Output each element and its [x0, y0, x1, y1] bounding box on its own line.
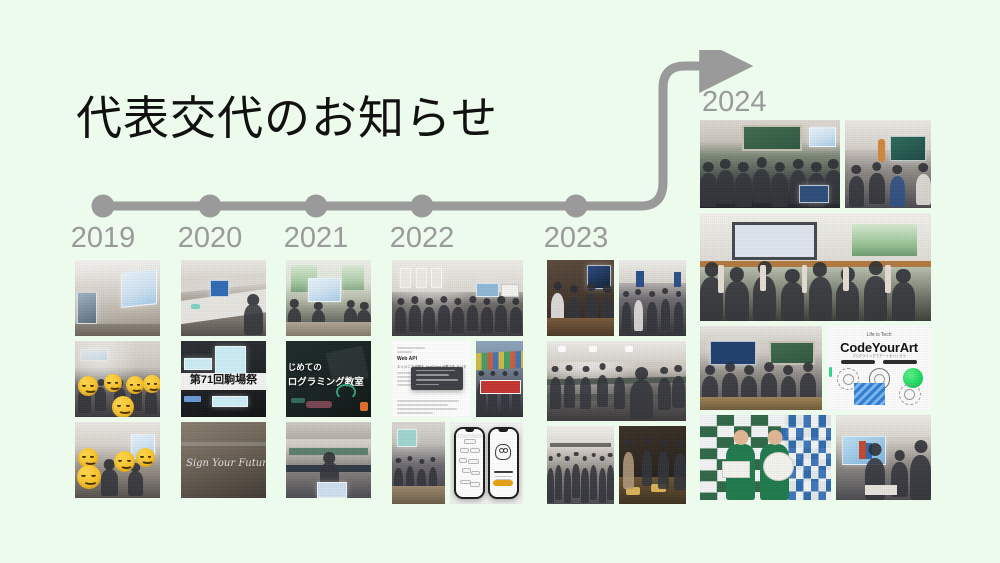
photo-column-2023 [547, 260, 686, 504]
komabasai-slide-photo: 第71回駒場祭 [181, 341, 266, 417]
photo-column-2022: Web API エンジニアが語る JavaScript が誰でも ビジネスを支配… [392, 260, 523, 504]
slide-canvas: 代表交代のお知らせ 2019 2020 2021 2022 2023 2024 [0, 0, 1000, 563]
page-title: 代表交代のお知らせ [76, 88, 498, 148]
sign-your-future-caption: Sign Your Future, Sign Our Future [186, 458, 266, 469]
seminar-room-participants-photo [75, 341, 160, 417]
school-hands-raised-photo [700, 213, 931, 321]
lecture-room-back-view-photo [286, 422, 371, 498]
photo-column-2020: 第71回駒場祭 Sign Your Future, Sign Our Futur… [181, 260, 266, 498]
office-coding-session-photo [619, 260, 686, 336]
photo-block-2024: Life is Tech CodeYourArt プログラミングでアートをつくろ… [700, 120, 931, 500]
codeyourart-website-screenshot: Life is Tech CodeYourArt プログラミングでアートをつくろ… [827, 326, 931, 411]
year-label-2020: 2020 [178, 222, 243, 255]
codeyourart-site-logo: Life is Tech [867, 332, 892, 338]
photo-column-2021: じめての ログラミング教室 [286, 260, 371, 498]
award-ceremony-photo [700, 415, 831, 500]
year-label-2024: 2024 [702, 86, 767, 119]
university-lecture-hall-photo [700, 120, 840, 208]
codeyourart-nav[interactable] [841, 360, 917, 364]
coworking-workshop-photo [286, 260, 371, 336]
timeline-dot-2019 [92, 195, 115, 218]
app-mockup-mindmap-screen [454, 427, 485, 499]
classroom-projector-photo [75, 260, 160, 336]
web-article-screenshot: Web API エンジニアが語る JavaScript が誰でも ビジネスを支配… [392, 341, 471, 417]
large-lecture-hall-photo [392, 260, 523, 336]
timeline-dot-2021 [305, 195, 328, 218]
app-mockup-owl-screen [488, 427, 519, 499]
sign-your-future-poster-photo: Sign Your Future, Sign Our Future [181, 422, 266, 498]
year-label-2022: 2022 [390, 222, 455, 255]
programming-class-caption-line1: じめての [288, 361, 322, 373]
workshop-tables-photo [392, 422, 445, 504]
app-mockups-photo [450, 422, 523, 504]
year-label-2019: 2019 [71, 222, 136, 255]
classroom-desks-laptops-photo [181, 260, 266, 336]
timeline-dot-2020 [199, 195, 222, 218]
year-label-2021: 2021 [284, 222, 349, 255]
year-label-2023: 2023 [544, 222, 609, 255]
photo-column-2019 [75, 260, 160, 498]
classroom-screen-demo-photo [836, 415, 931, 500]
lab-lecture-photo [845, 120, 931, 208]
web-article-title: Web API [397, 356, 466, 362]
hardware-workshop-photo [547, 260, 614, 336]
workshop-laptops-photo [75, 422, 160, 498]
dinner-gathering-photo [619, 426, 686, 504]
timeline-dot-2022 [411, 195, 434, 218]
classroom-presentation-photo [700, 326, 822, 411]
lecture-theatre-wide-photo [547, 341, 686, 421]
codeyourart-site-subtitle: プログラミングでアートをつくろう [852, 353, 906, 358]
team-banner-group-photo [476, 341, 523, 417]
timeline-dot-2023 [565, 195, 588, 218]
classroom-group-photo [547, 426, 614, 504]
programming-class-slide-photo: じめての ログラミング教室 [286, 341, 371, 417]
komabasai-caption: 第71回駒場祭 [181, 373, 266, 390]
